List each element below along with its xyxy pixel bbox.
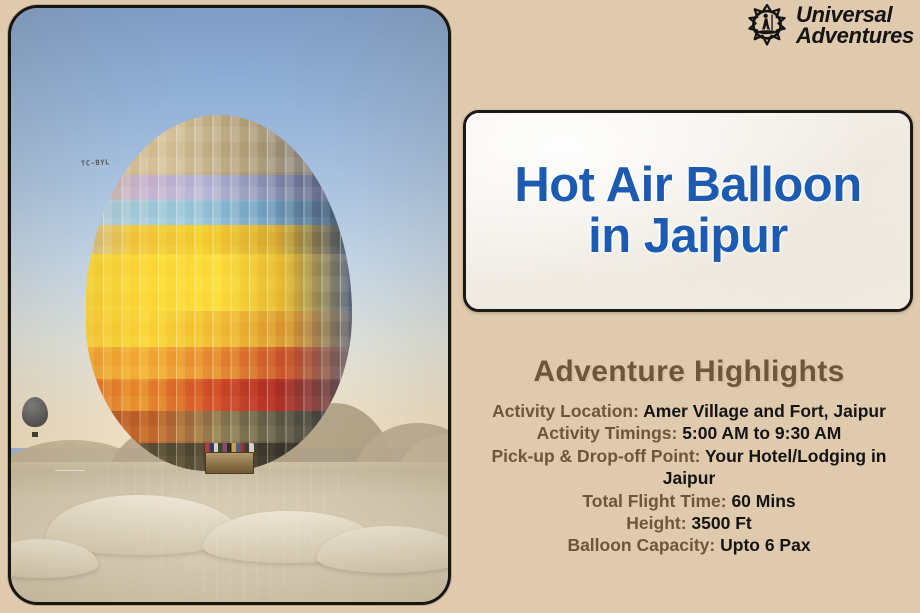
page-title: Hot Air Balloon in Jaipur	[514, 160, 861, 262]
title-line-1: Hot Air Balloon	[514, 158, 861, 212]
highlight-row: Activity Timings: 5:00 AM to 9:30 AM	[463, 422, 915, 444]
highlight-row: Total Flight Time: 60 Mins	[463, 490, 915, 512]
highlight-label: Pick-up & Drop-off Point:	[491, 446, 700, 466]
highlight-value: 3500 Ft	[687, 513, 752, 533]
highlight-row: Pick-up & Drop-off Point: Your Hotel/Lod…	[463, 445, 915, 490]
balloon-basket	[205, 452, 253, 473]
balloon-envelope	[85, 115, 352, 471]
highlight-label: Balloon Capacity:	[567, 535, 715, 555]
highlights-list: Activity Location: Amer Village and Fort…	[463, 400, 915, 557]
compass-hiker-icon	[745, 4, 789, 48]
highlights-heading: Adventure Highlights	[463, 355, 915, 388]
highlight-label: Activity Timings:	[537, 423, 678, 443]
main-hot-air-balloon	[85, 115, 352, 471]
highlight-row: Activity Location: Amer Village and Fort…	[463, 400, 915, 422]
title-card: Hot Air Balloon in Jaipur	[463, 110, 913, 312]
highlight-value: 5:00 AM to 9:30 AM	[677, 423, 841, 443]
hero-photo-frame: TC-BYL	[8, 5, 451, 605]
highlight-label: Total Flight Time:	[582, 491, 726, 511]
highlights-section: Adventure Highlights Activity Location: …	[463, 355, 915, 557]
highlight-row: Balloon Capacity: Upto 6 Pax	[463, 534, 915, 556]
highlight-row: Height: 3500 Ft	[463, 512, 915, 534]
brand-line-2: Adventures	[796, 26, 914, 47]
highlight-label: Activity Location:	[492, 401, 639, 421]
highlight-value: Upto 6 Pax	[715, 535, 810, 555]
highlight-value: 60 Mins	[727, 491, 796, 511]
brand-logo[interactable]: Universal Adventures	[745, 4, 914, 48]
highlight-value: Amer Village and Fort, Jaipur	[639, 401, 886, 421]
distant-balloon	[22, 397, 48, 437]
hot-air-balloon-photo: TC-BYL	[11, 8, 448, 602]
brand-wordmark: Universal Adventures	[796, 5, 914, 46]
highlight-label: Height:	[626, 513, 686, 533]
poster-canvas: TC-BYL Universal Adventures Hot A	[0, 0, 920, 613]
title-line-2: in Jaipur	[514, 211, 861, 262]
